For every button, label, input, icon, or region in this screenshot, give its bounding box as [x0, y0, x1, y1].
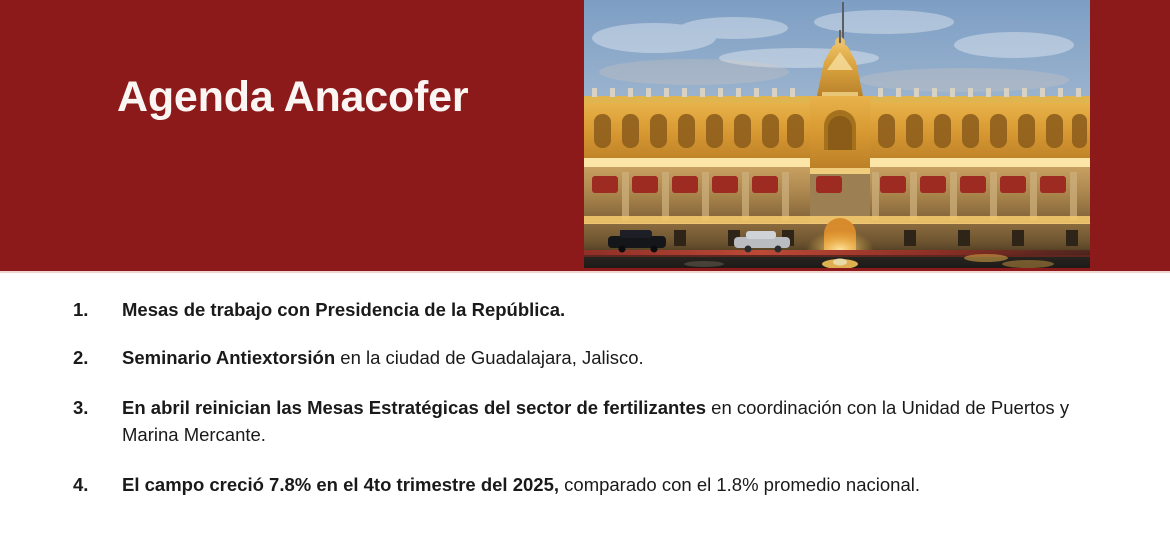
list-item: 4. El campo creció 7.8% en el 4to trimes… [0, 471, 1170, 498]
list-item-rest: en la ciudad de Guadalajara, Jalisco. [335, 347, 644, 368]
list-item-number: 2. [73, 344, 88, 371]
agenda-list: 1. Mesas de trabajo con Presidencia de l… [0, 296, 1170, 498]
list-item-number: 4. [73, 471, 88, 498]
list-item: 2. Seminario Antiextorsión en la ciudad … [0, 344, 1170, 371]
list-item-number: 3. [73, 394, 88, 421]
list-item-rest: comparado con el 1.8% promedio nacional. [559, 474, 920, 495]
list-spacer [0, 323, 1170, 344]
list-spacer [0, 371, 1170, 394]
list-item-number: 1. [73, 296, 88, 323]
list-spacer [0, 448, 1170, 471]
list-item: 3. En abril reinician las Mesas Estratég… [0, 394, 1170, 448]
list-item-lead: Seminario Antiextorsión [122, 347, 335, 368]
slide: Agenda Anacofer [0, 0, 1170, 540]
list-item-lead: En abril reinician las Mesas Estratégica… [122, 397, 706, 418]
list-item-lead: Mesas de trabajo con Presidencia de la R… [122, 299, 565, 320]
header-underline [0, 271, 1170, 273]
list-item: 1. Mesas de trabajo con Presidencia de l… [0, 296, 1170, 323]
list-item-lead: El campo creció 7.8% en el 4to trimestre… [122, 474, 559, 495]
page-title: Agenda Anacofer [117, 74, 468, 121]
palacio-nacional-illustration [584, 0, 1090, 268]
palacio-nacional-photo [584, 0, 1090, 268]
